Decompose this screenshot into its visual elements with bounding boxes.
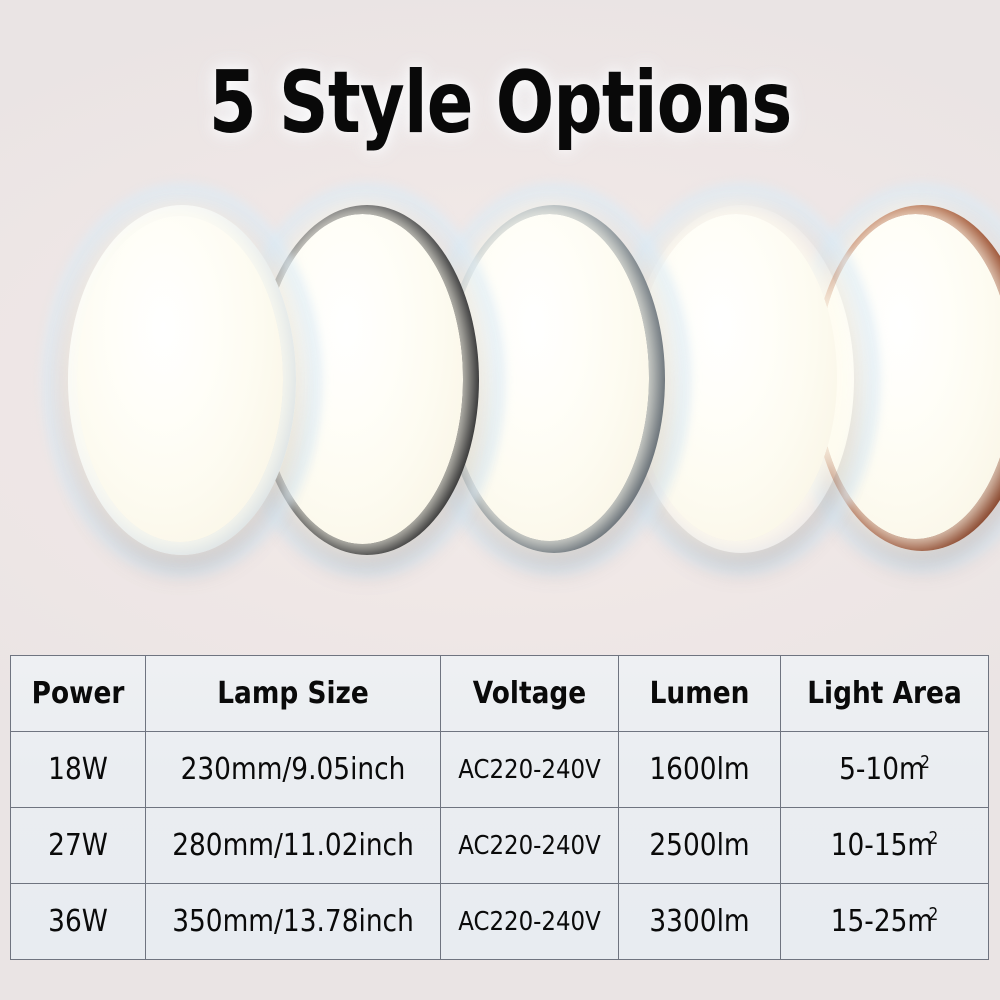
- specification-table: Power Lamp Size Voltage Lumen Light Area…: [10, 655, 989, 960]
- column-header-lumen: Lumen: [619, 656, 781, 732]
- cell-voltage: AC220-240V: [441, 732, 619, 808]
- page-title-text: 5 Style Options: [209, 60, 792, 146]
- light-area-value: 10-15m: [831, 828, 933, 863]
- column-header-lamp-size: Lamp Size: [146, 656, 441, 732]
- cell-lumen: 3300lm: [619, 884, 781, 960]
- column-header-light-area: Light Area: [781, 656, 989, 732]
- cell-lumen: 1600lm: [619, 732, 781, 808]
- table-header-row: Power Lamp Size Voltage Lumen Light Area: [11, 656, 989, 732]
- white-lamp[interactable]: [68, 205, 296, 555]
- cell-voltage: AC220-240V: [441, 884, 619, 960]
- page-title: 5 Style Options: [0, 48, 1000, 158]
- cell-power: 36W: [11, 884, 146, 960]
- cell-lumen: 2500lm: [619, 808, 781, 884]
- light-area-exponent: 2: [929, 905, 939, 925]
- light-area-exponent: 2: [929, 829, 939, 849]
- cell-lamp-size: 280mm/11.02inch: [146, 808, 441, 884]
- cell-lamp-size: 350mm/13.78inch: [146, 884, 441, 960]
- column-header-power: Power: [11, 656, 146, 732]
- column-header-voltage: Voltage: [441, 656, 619, 732]
- cell-power: 27W: [11, 808, 146, 884]
- product-infographic: 5 Style Options: [0, 0, 1000, 1000]
- cell-power: 18W: [11, 732, 146, 808]
- lamp-style-gallery: [0, 205, 1000, 625]
- cell-light-area: 15-25m2: [781, 884, 989, 960]
- light-area-value: 15-25m: [831, 904, 933, 939]
- table-row: 36W 350mm/13.78inch AC220-240V 3300lm 15…: [11, 884, 989, 960]
- light-area-value: 5-10m: [839, 752, 925, 787]
- cell-light-area: 5-10m2: [781, 732, 989, 808]
- cell-light-area: 10-15m2: [781, 808, 989, 884]
- white-lamp-diffuser: [77, 216, 283, 542]
- table-row: 18W 230mm/9.05inch AC220-240V 1600lm 5-1…: [11, 732, 989, 808]
- table-row: 27W 280mm/11.02inch AC220-240V 2500lm 10…: [11, 808, 989, 884]
- cell-lamp-size: 230mm/9.05inch: [146, 732, 441, 808]
- light-area-exponent: 2: [920, 753, 930, 773]
- cell-voltage: AC220-240V: [441, 808, 619, 884]
